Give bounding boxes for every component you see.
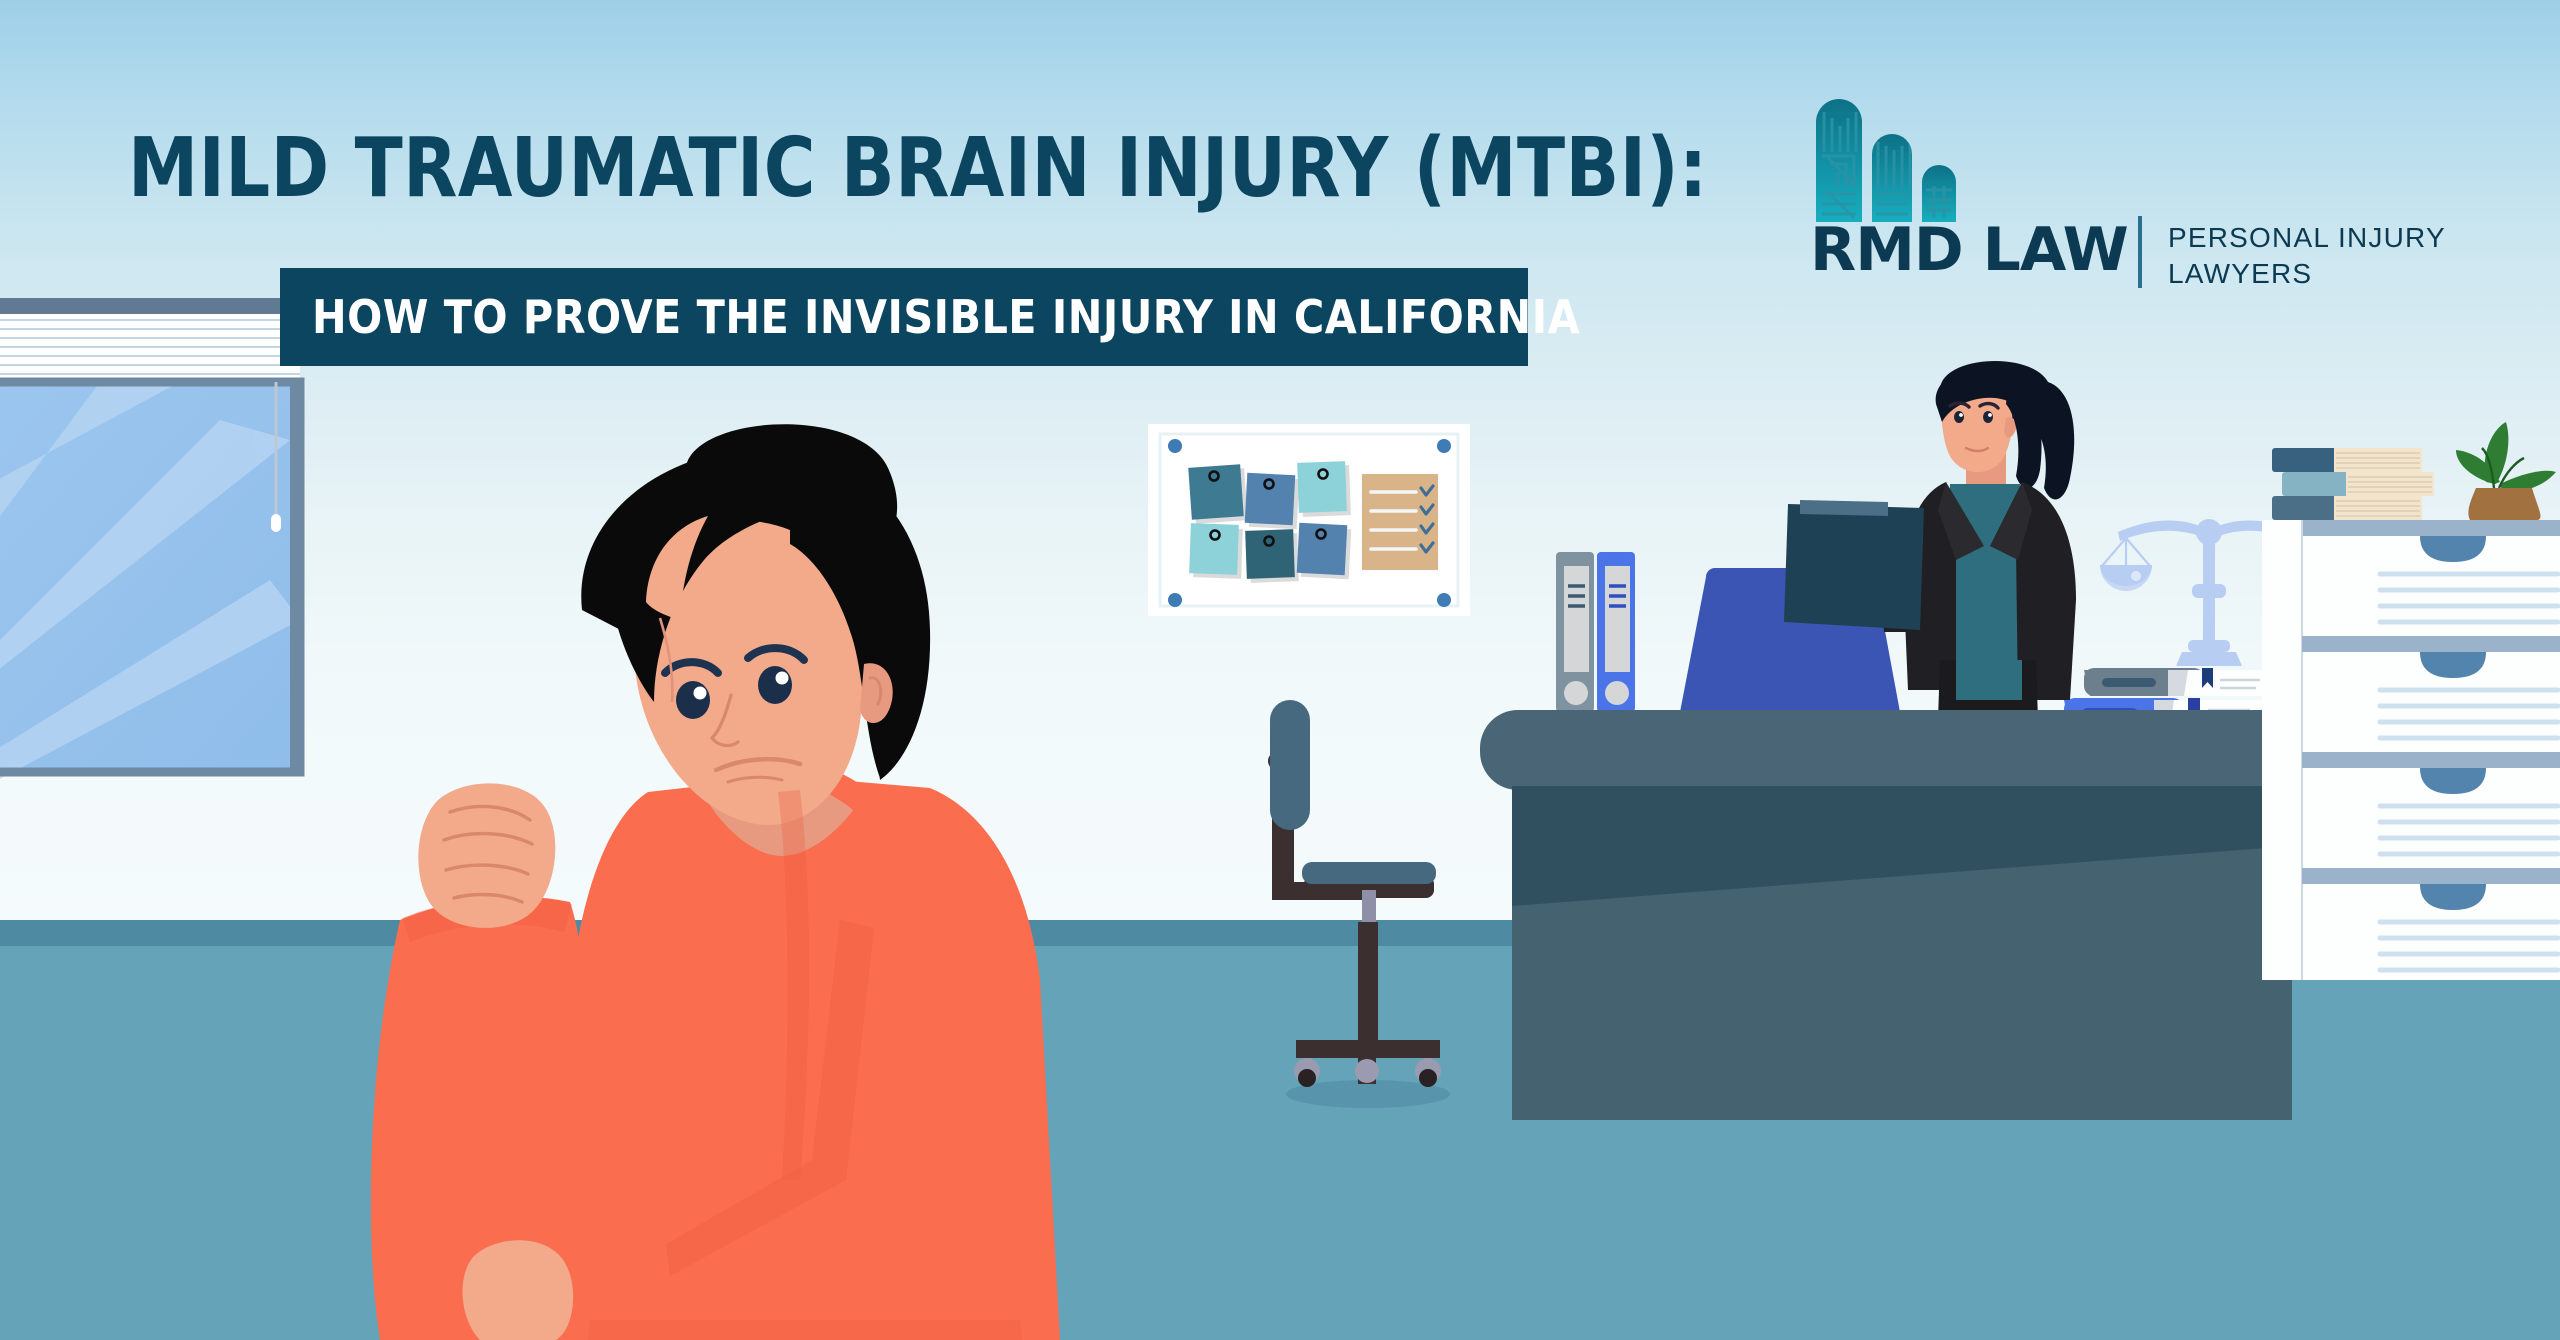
logo-tagline-line2: LAWYERS xyxy=(2168,256,2446,292)
logo-wordmark: RMD LAW xyxy=(1810,220,2128,280)
page-title: MILD TRAUMATIC BRAIN INJURY (MTBI): xyxy=(128,128,1708,210)
bulletin-board-icon xyxy=(1148,424,1470,616)
law-book-icon xyxy=(2272,496,2422,520)
rmd-logo-bars-icon xyxy=(1810,92,2110,222)
logo-tagline-line1: PERSONAL INJURY xyxy=(2168,220,2446,256)
binder-icon xyxy=(1597,552,1635,712)
office-chair-icon xyxy=(1250,690,1480,1120)
filing-cabinet-icon xyxy=(2280,450,2560,980)
subtitle-banner: HOW TO PROVE THE INVISIBLE INJURY IN CAL… xyxy=(280,268,1528,366)
binder-icon xyxy=(1556,552,1594,712)
law-book-icon xyxy=(2272,448,2422,472)
clipboard-icon xyxy=(1784,500,1924,630)
window-icon xyxy=(0,280,320,800)
injured-person-character xyxy=(460,420,1120,1340)
hero-banner-image: MILD TRAUMATIC BRAIN INJURY (MTBI): HOW … xyxy=(0,0,2560,1340)
logo-divider xyxy=(2138,216,2142,288)
desk-icon xyxy=(1480,710,2325,1120)
logo-tagline: PERSONAL INJURY LAWYERS xyxy=(2168,220,2446,292)
rmd-law-logo[interactable]: RMD LAW PERSONAL INJURY LAWYERS xyxy=(1810,92,2510,282)
page-subtitle: HOW TO PROVE THE INVISIBLE INJURY IN CAL… xyxy=(312,294,1580,340)
checklist-icon xyxy=(1362,474,1438,570)
law-book-icon xyxy=(2282,472,2434,496)
